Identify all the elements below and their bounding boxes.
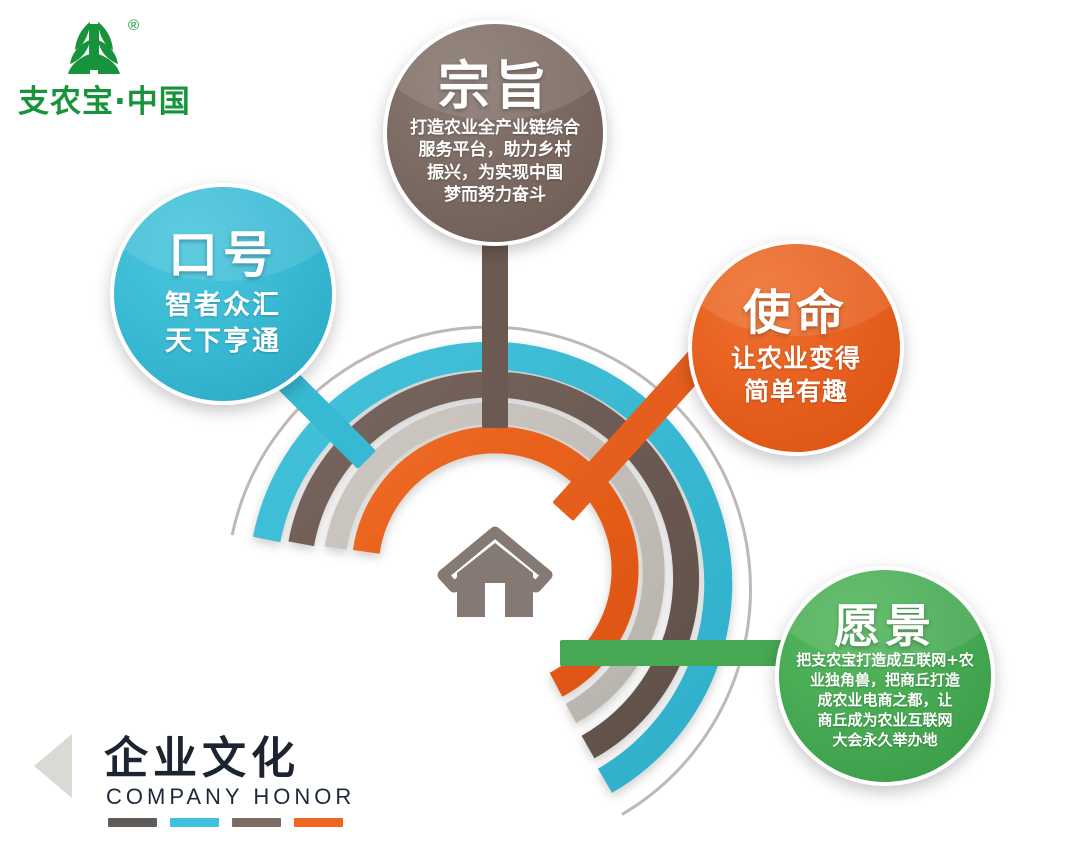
node-slogan-title: 口号	[168, 229, 278, 282]
color-swatch	[170, 818, 219, 827]
house-icon	[437, 525, 553, 621]
node-mission[interactable]: 使命 让农业变得 简单有趣	[688, 240, 904, 456]
color-swatch	[232, 818, 281, 827]
footer-title-cn: 企业文化	[104, 722, 300, 786]
color-swatch	[294, 818, 343, 827]
node-purpose-line: 服务平台，助力乡村	[410, 139, 580, 161]
node-mission-line: 让农业变得	[731, 342, 861, 375]
node-purpose[interactable]: 宗旨 打造农业全产业链综合 服务平台，助力乡村 振兴，为实现中国 梦而努力奋斗	[383, 20, 607, 246]
node-vision-line: 商丘成为农业互联网	[796, 711, 974, 731]
node-mission-body: 让农业变得 简单有趣	[719, 342, 873, 408]
registered-mark: ®	[128, 18, 139, 33]
node-purpose-line: 打造农业全产业链综合	[410, 117, 580, 139]
node-slogan-body: 智者众汇 天下亨通	[153, 288, 293, 359]
node-vision-line: 大会永久举办地	[796, 731, 974, 751]
node-vision-title: 愿景	[834, 602, 936, 651]
node-slogan-line: 智者众汇	[165, 288, 281, 324]
footer-caption: 企业文化 COMPANY HONOR	[30, 722, 450, 832]
brand-logo: ® 支农宝·中国	[18, 14, 238, 114]
node-mission-title: 使命	[743, 288, 849, 339]
node-vision-line: 把支农宝打造成互联网+农	[796, 651, 974, 671]
node-mission-line: 简单有趣	[731, 375, 861, 408]
left-triangle-icon	[34, 734, 72, 798]
node-purpose-line: 梦而努力奋斗	[410, 184, 580, 206]
node-vision-line: 成农业电商之都，让	[796, 691, 974, 711]
color-swatch	[108, 818, 157, 827]
node-vision-line: 业独角兽，把商丘打造	[796, 671, 974, 691]
footer-title-en: COMPANY HONOR	[106, 784, 355, 810]
node-slogan[interactable]: 口号 智者众汇 天下亨通	[110, 183, 336, 405]
node-purpose-line: 振兴，为实现中国	[410, 162, 580, 184]
node-purpose-title: 宗旨	[438, 60, 552, 115]
node-vision-body: 把支农宝打造成互联网+农 业独角兽，把商丘打造 成农业电商之都，让 商丘成为农业…	[788, 651, 982, 750]
node-slogan-line: 天下亨通	[165, 324, 281, 360]
node-purpose-body: 打造农业全产业链综合 服务平台，助力乡村 振兴，为实现中国 梦而努力奋斗	[398, 117, 592, 207]
node-vision[interactable]: 愿景 把支农宝打造成互联网+农 业独角兽，把商丘打造 成农业电商之都，让 商丘成…	[775, 566, 995, 786]
infographic-canvas: ® 支农宝·中国	[0, 0, 1080, 846]
color-swatch-row	[108, 818, 343, 827]
brand-wordmark: 支农宝·中国	[18, 76, 238, 121]
